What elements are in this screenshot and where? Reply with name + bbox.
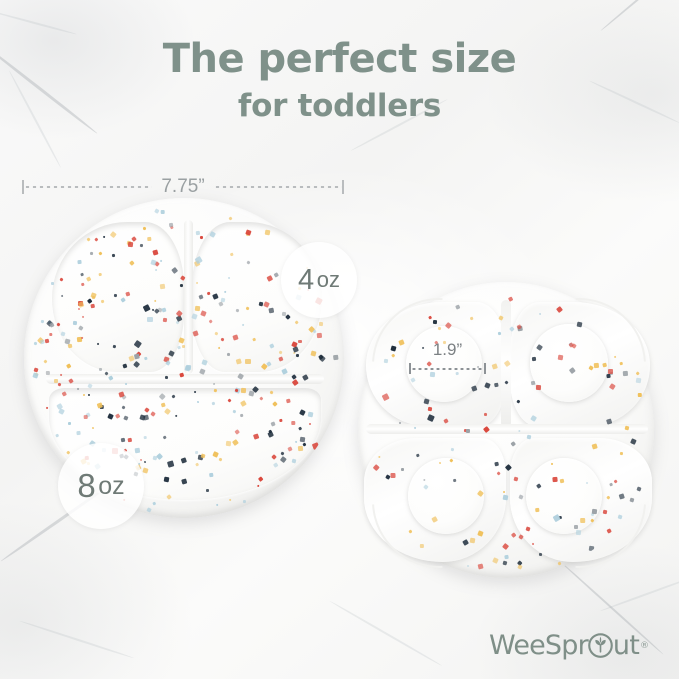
dimension-dotted-line-left xyxy=(24,186,152,188)
suction-cup-bottom-left xyxy=(408,458,484,534)
registered-trademark-symbol: ® xyxy=(640,641,648,651)
confetti-speck xyxy=(228,217,232,221)
confetti-speck xyxy=(467,565,470,568)
brand-name-part-2: ut xyxy=(613,630,639,661)
confetti-speck xyxy=(33,367,38,372)
dimension-dotted-line-right xyxy=(214,186,342,188)
confetti-speck xyxy=(477,563,483,569)
brand-name-part-1: WeeSpr xyxy=(489,630,588,661)
confetti-speck xyxy=(169,225,174,230)
capacity-badge-4oz-number: 4 xyxy=(298,264,314,297)
headline-line-1: The perfect size xyxy=(0,36,679,82)
confetti-speck xyxy=(319,355,325,361)
marble-vein xyxy=(329,600,443,667)
confetti-speck xyxy=(169,223,174,228)
confetti-speck xyxy=(317,333,322,338)
confetti-speck xyxy=(34,373,38,377)
marble-vein xyxy=(0,40,98,135)
confetti-speck xyxy=(200,236,203,239)
confetti-speck xyxy=(215,504,218,507)
sprout-icon xyxy=(588,633,613,658)
compartment-dotted-line xyxy=(411,368,484,370)
confetti-speck xyxy=(45,338,50,343)
headline-line-2: for toddlers xyxy=(0,85,679,127)
confetti-speck xyxy=(67,364,72,369)
confetti-speck xyxy=(46,319,54,327)
dimension-end-cap-right xyxy=(342,180,344,194)
confetti-speck xyxy=(319,322,324,327)
confetti-speck xyxy=(154,209,159,214)
confetti-speck xyxy=(318,354,323,359)
confetti-speck xyxy=(37,337,44,344)
divider-rib-horizontal xyxy=(46,374,324,384)
capacity-badge-8oz-unit: oz xyxy=(98,472,124,501)
confetti-speck xyxy=(310,350,316,356)
confetti-speck xyxy=(45,406,48,409)
confetti-speck xyxy=(161,210,165,214)
capacity-badge-8oz-number: 8 xyxy=(77,467,95,505)
compartment-upper-left xyxy=(52,222,184,372)
confetti-speck xyxy=(517,565,522,570)
confetti-speck xyxy=(505,555,509,559)
confetti-speck xyxy=(199,368,205,374)
confetti-speck xyxy=(517,560,522,565)
confetti-speck xyxy=(333,355,339,361)
marble-vein xyxy=(19,620,134,659)
marble-vein xyxy=(600,0,679,32)
confetti-speck xyxy=(630,438,636,444)
confetti-speck xyxy=(229,499,232,502)
confetti-speck xyxy=(146,507,152,513)
headline: The perfect size for toddlers xyxy=(0,36,679,127)
compartment-width-dimension xyxy=(409,363,486,374)
compartment-width-label: 1.9” xyxy=(409,340,486,360)
confetti-speck xyxy=(510,441,516,447)
confetti-speck xyxy=(49,322,54,327)
confetti-speck xyxy=(33,373,39,379)
compartment-dimension-cap-right xyxy=(484,363,486,374)
capacity-badge-4oz: 4 oz xyxy=(281,242,357,318)
confetti-speck xyxy=(152,502,156,506)
plate-width-dimension: 7.75” xyxy=(22,180,344,194)
confetti-speck xyxy=(492,557,498,563)
brand-logo: WeeSpr ut ® xyxy=(489,630,648,661)
confetti-speck xyxy=(40,319,43,322)
confetti-speck xyxy=(196,231,200,235)
confetti-speck xyxy=(43,359,47,363)
marble-vein xyxy=(600,576,679,612)
confetti-speck xyxy=(242,500,245,503)
marble-vein xyxy=(589,80,679,124)
divided-plate-back xyxy=(358,282,654,578)
confetti-speck xyxy=(511,532,516,537)
confetti-speck xyxy=(33,341,37,345)
suction-cup-bottom-right xyxy=(526,458,602,534)
marble-vein xyxy=(350,98,448,151)
plate-width-label: 7.75” xyxy=(152,176,213,198)
capacity-badge-4oz-unit: oz xyxy=(317,267,340,293)
marble-vein xyxy=(0,10,77,35)
confetti-speck xyxy=(502,543,509,550)
confetti-speck xyxy=(503,560,507,564)
divider-rib-vertical xyxy=(184,220,193,374)
confetti-speck xyxy=(39,339,45,345)
capacity-badge-8oz: 8 oz xyxy=(58,443,144,529)
product-image-canvas: The perfect size for toddlers 7.75” xyxy=(0,0,679,679)
suction-cup-top-right xyxy=(530,324,608,402)
confetti-speck xyxy=(49,333,53,337)
confetti-speck xyxy=(48,320,51,323)
